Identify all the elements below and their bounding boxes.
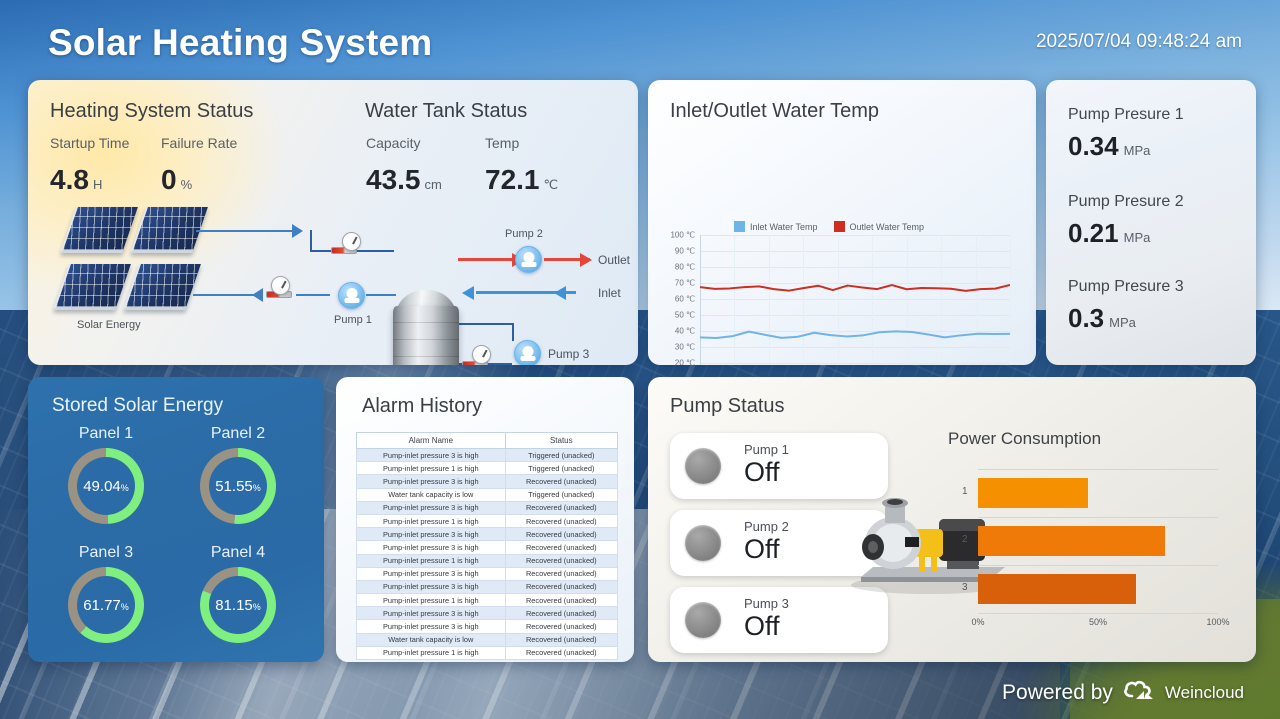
solar-energy-label: Solar Energy <box>77 319 141 331</box>
pump-1-name: Pump 1 <box>744 442 789 457</box>
pump-2-state: Off <box>744 534 780 565</box>
cloud-icon <box>1122 678 1156 707</box>
powered-by-label: Powered by <box>1002 681 1113 705</box>
power-chart-xtick: 0% <box>971 617 984 627</box>
temp-chart-ytick: 60 ℃ <box>675 295 695 304</box>
temp-chart-ytick: 70 ℃ <box>675 279 695 288</box>
solar-panel-value-4: 81.15% <box>215 597 261 614</box>
power-bar-label-3: 3 <box>962 582 968 593</box>
solar-panel-donut-2: 51.55% <box>200 448 276 524</box>
alarm-table-row[interactable]: Pump-inlet pressure 3 is highRecovered (… <box>357 528 618 541</box>
legend-label-outlet: Outlet Water Temp <box>850 222 925 232</box>
legend-item-inlet: Inlet Water Temp <box>734 221 818 232</box>
page-title: Solar Heating System <box>48 22 432 64</box>
pressure-gauge-icon-3 <box>472 345 491 364</box>
alarm-table-row[interactable]: Pump-inlet pressure 1 is highRecovered (… <box>357 646 618 659</box>
alarm-history-title: Alarm History <box>362 395 482 418</box>
pump-status-title: Pump Status <box>670 395 785 418</box>
power-consumption-title: Power Consumption <box>948 429 1101 449</box>
alarm-table-row[interactable]: Pump-inlet pressure 3 is highRecovered (… <box>357 620 618 633</box>
page-header: Solar Heating System 2025/07/04 09:48:24… <box>0 0 1280 78</box>
water-temp-chart-card: Inlet/Outlet Water Temp Inlet Water Temp… <box>648 80 1036 365</box>
legend-label-inlet: Inlet Water Temp <box>750 222 818 232</box>
alarm-status-cell: Recovered (unacked) <box>505 567 617 580</box>
heating-system-card: Heating System Status Water Tank Status … <box>28 80 638 365</box>
alarm-table-row[interactable]: Water tank capacity is lowRecovered (una… <box>357 633 618 646</box>
pump-1-indicator <box>685 448 721 484</box>
solar-panel-gauge-4: Panel 481.15% <box>174 544 302 643</box>
temp-chart-line-outlet <box>700 285 1010 291</box>
alarm-name-cell: Pump-inlet pressure 3 is high <box>357 620 506 633</box>
solar-panel-donut-3: 61.77% <box>68 567 144 643</box>
pump-pressure-3-label: Pump Presure 3 <box>1068 278 1184 296</box>
alarm-name-cell: Pump-inlet pressure 1 is high <box>357 462 506 475</box>
pump-pressure-2-label: Pump Presure 2 <box>1068 193 1184 211</box>
solar-panel-graphic-1 <box>60 207 138 253</box>
pump-pressure-1-label: Pump Presure 1 <box>1068 106 1184 124</box>
pump-pressure-1-value: 0.34MPa <box>1068 131 1150 162</box>
solar-panel-gauge-2: Panel 251.55% <box>174 425 302 524</box>
power-bar-label-1: 1 <box>962 486 968 497</box>
alarm-table-row[interactable]: Pump-inlet pressure 1 is highTriggered (… <box>357 462 618 475</box>
solar-panel-donut-1: 49.04% <box>68 448 144 524</box>
alarm-history-table: Alarm Name Status Pump-inlet pressure 3 … <box>356 432 618 660</box>
alarm-table-row[interactable]: Pump-inlet pressure 3 is highRecovered (… <box>357 567 618 580</box>
alarm-name-cell: Pump-inlet pressure 3 is high <box>357 541 506 554</box>
alarm-name-cell: Pump-inlet pressure 1 is high <box>357 594 506 607</box>
alarm-name-cell: Pump-inlet pressure 1 is high <box>357 646 506 659</box>
pump-graphic-2 <box>515 246 542 273</box>
power-chart-xtick: 100% <box>1206 617 1229 627</box>
chart-legend: Inlet Water Temp Outlet Water Temp <box>734 221 924 232</box>
alarm-name-cell: Pump-inlet pressure 3 is high <box>357 567 506 580</box>
alarm-history-card: Alarm History Alarm Name Status Pump-inl… <box>336 377 634 662</box>
solar-panel-graphic-3 <box>53 264 131 310</box>
pressure-gauge-icon-2 <box>271 276 290 295</box>
alarm-table-row[interactable]: Pump-inlet pressure 3 is highRecovered (… <box>357 475 618 488</box>
brand-name: Weincloud <box>1165 683 1244 703</box>
stored-solar-title: Stored Solar Energy <box>52 395 223 417</box>
solar-panel-name-2: Panel 2 <box>174 425 302 443</box>
pump-pressure-1-unit: MPa <box>1124 143 1151 158</box>
temp-chart-ytick: 30 ℃ <box>675 343 695 352</box>
pump-2-name: Pump 2 <box>744 519 789 534</box>
alarm-table-row[interactable]: Pump-inlet pressure 1 is highRecovered (… <box>357 514 618 527</box>
legend-swatch-outlet <box>834 221 845 232</box>
alarm-status-cell: Recovered (unacked) <box>505 501 617 514</box>
alarm-name-cell: Pump-inlet pressure 3 is high <box>357 475 506 488</box>
alarm-table-row[interactable]: Pump-inlet pressure 3 is highRecovered (… <box>357 607 618 620</box>
pump-graphic-3 <box>514 340 541 365</box>
legend-item-outlet: Outlet Water Temp <box>834 221 925 232</box>
alarm-status-cell: Recovered (unacked) <box>505 646 617 659</box>
pump-3-name: Pump 3 <box>744 596 789 611</box>
solar-panel-gauge-1: Panel 149.04% <box>42 425 170 524</box>
alarm-name-cell: Pump-inlet pressure 3 is high <box>357 501 506 514</box>
alarm-name-cell: Pump-inlet pressure 3 is high <box>357 528 506 541</box>
alarm-status-cell: Recovered (unacked) <box>505 554 617 567</box>
temp-chart-ytick: 20 ℃ <box>675 359 695 366</box>
alarm-table-row[interactable]: Pump-inlet pressure 3 is highRecovered (… <box>357 580 618 593</box>
pump-pressure-3-unit: MPa <box>1109 315 1136 330</box>
pump-2-indicator <box>685 525 721 561</box>
power-chart-gridline <box>978 613 1218 614</box>
dashboard-root: Solar Heating System 2025/07/04 09:48:24… <box>0 0 1280 719</box>
pump-graphic-1 <box>338 282 365 309</box>
solar-panel-donut-4: 81.15% <box>200 567 276 643</box>
water-tank-graphic <box>393 290 459 365</box>
power-chart-gridline <box>978 469 1218 470</box>
alarm-table-row[interactable]: Pump-inlet pressure 3 is highRecovered (… <box>357 501 618 514</box>
alarm-table-row[interactable]: Pump-inlet pressure 3 is highTriggered (… <box>357 449 618 462</box>
power-bar-row-2: 2 <box>978 526 1218 556</box>
solar-panel-graphic-4 <box>123 264 201 310</box>
solar-panel-name-3: Panel 3 <box>42 544 170 562</box>
alarm-status-cell: Recovered (unacked) <box>505 580 617 593</box>
power-bar-fill-2 <box>978 526 1165 556</box>
alarm-status-cell: Recovered (unacked) <box>505 514 617 527</box>
solar-panel-value-3: 61.77% <box>83 597 129 614</box>
alarm-col-name: Alarm Name <box>357 433 506 449</box>
alarm-name-cell: Pump-inlet pressure 1 is high <box>357 514 506 527</box>
pump-pressure-3-value: 0.3MPa <box>1068 303 1136 334</box>
temp-chart-ytick: 100 ℃ <box>670 231 695 240</box>
solar-panel-name-4: Panel 4 <box>174 544 302 562</box>
alarm-status-cell: Triggered (unacked) <box>505 449 617 462</box>
pump3-diagram-label: Pump 3 <box>548 347 589 361</box>
stored-solar-energy-card: Stored Solar Energy Panel 149.04%Panel 2… <box>28 377 324 662</box>
temp-chart-ytick: 40 ℃ <box>675 327 695 336</box>
system-schematic: Solar Energy Pump 1 Pump 2 <box>28 80 638 365</box>
power-chart-xtick: 50% <box>1089 617 1107 627</box>
water-temp-chart-title: Inlet/Outlet Water Temp <box>670 100 879 123</box>
pump1-diagram-label: Pump 1 <box>334 314 372 326</box>
temp-chart-line-inlet <box>700 331 1010 338</box>
solar-panel-gauge-3: Panel 361.77% <box>42 544 170 643</box>
datetime-display: 2025/07/04 09:48:24 am <box>1036 31 1242 53</box>
alarm-status-cell: Recovered (unacked) <box>505 620 617 633</box>
pump2-diagram-label: Pump 2 <box>505 228 543 240</box>
alarm-table-row[interactable]: Pump-inlet pressure 1 is highRecovered (… <box>357 554 618 567</box>
power-bar-label-2: 2 <box>962 534 968 545</box>
power-bar-fill-3 <box>978 574 1136 604</box>
alarm-status-cell: Recovered (unacked) <box>505 541 617 554</box>
legend-swatch-inlet <box>734 221 745 232</box>
alarm-status-cell: Recovered (unacked) <box>505 475 617 488</box>
water-temp-plot: 0 ℃10 ℃20 ℃30 ℃40 ℃50 ℃60 ℃70 ℃80 ℃90 ℃1… <box>700 235 1010 365</box>
alarm-name-cell: Water tank capacity is low <box>357 633 506 646</box>
alarm-name-cell: Water tank capacity is low <box>357 488 506 501</box>
alarm-status-cell: Recovered (unacked) <box>505 633 617 646</box>
alarm-status-cell: Triggered (unacked) <box>505 488 617 501</box>
pressure-gauge-icon-1 <box>342 232 361 251</box>
alarm-status-cell: Recovered (unacked) <box>505 528 617 541</box>
alarm-status-cell: Recovered (unacked) <box>505 607 617 620</box>
alarm-status-cell: Recovered (unacked) <box>505 594 617 607</box>
pump-status-row-3[interactable]: Pump 3 Off <box>670 587 888 653</box>
outlet-label: Outlet <box>598 253 630 267</box>
temp-chart-ytick: 50 ℃ <box>675 311 695 320</box>
inlet-label: Inlet <box>598 286 621 300</box>
power-bar-fill-1 <box>978 478 1088 508</box>
pump-pressure-2-value: 0.21MPa <box>1068 218 1150 249</box>
alarm-name-cell: Pump-inlet pressure 3 is high <box>357 580 506 593</box>
alarm-name-cell: Pump-inlet pressure 3 is high <box>357 449 506 462</box>
temp-chart-series <box>700 235 1010 365</box>
temp-chart-ytick: 90 ℃ <box>675 247 695 256</box>
footer-brand: Powered by Weincloud <box>1002 678 1244 707</box>
power-chart-gridline <box>978 565 1218 566</box>
pump-3-indicator <box>685 602 721 638</box>
alarm-table-row[interactable]: Water tank capacity is lowTriggered (una… <box>357 488 618 501</box>
alarm-table-row[interactable]: Pump-inlet pressure 3 is highRecovered (… <box>357 541 618 554</box>
pump-1-state: Off <box>744 457 780 488</box>
alarm-col-status: Status <box>505 433 617 449</box>
alarm-table-header-row: Alarm Name Status <box>357 433 618 449</box>
power-consumption-chart: 1230%50%100% <box>978 469 1218 609</box>
alarm-name-cell: Pump-inlet pressure 1 is high <box>357 554 506 567</box>
solar-panel-value-2: 51.55% <box>215 478 261 495</box>
power-chart-gridline <box>978 517 1218 518</box>
temp-chart-vgridline <box>1010 235 1011 365</box>
alarm-status-cell: Triggered (unacked) <box>505 462 617 475</box>
pump-pressure-card: Pump Presure 1 0.34MPa Pump Presure 2 0.… <box>1046 80 1256 365</box>
pump-pressure-2-unit: MPa <box>1124 230 1151 245</box>
power-bar-row-3: 3 <box>978 574 1218 604</box>
power-bar-row-1: 1 <box>978 478 1218 508</box>
pump-status-card: Pump Status Pump 1 Off Pump 2 Off Pump 3… <box>648 377 1256 662</box>
temp-chart-ytick: 80 ℃ <box>675 263 695 272</box>
alarm-table-row[interactable]: Pump-inlet pressure 1 is highRecovered (… <box>357 594 618 607</box>
solar-panel-name-1: Panel 1 <box>42 425 170 443</box>
alarm-name-cell: Pump-inlet pressure 3 is high <box>357 607 506 620</box>
solar-panel-value-1: 49.04% <box>83 478 129 495</box>
pump-3-state: Off <box>744 611 780 642</box>
